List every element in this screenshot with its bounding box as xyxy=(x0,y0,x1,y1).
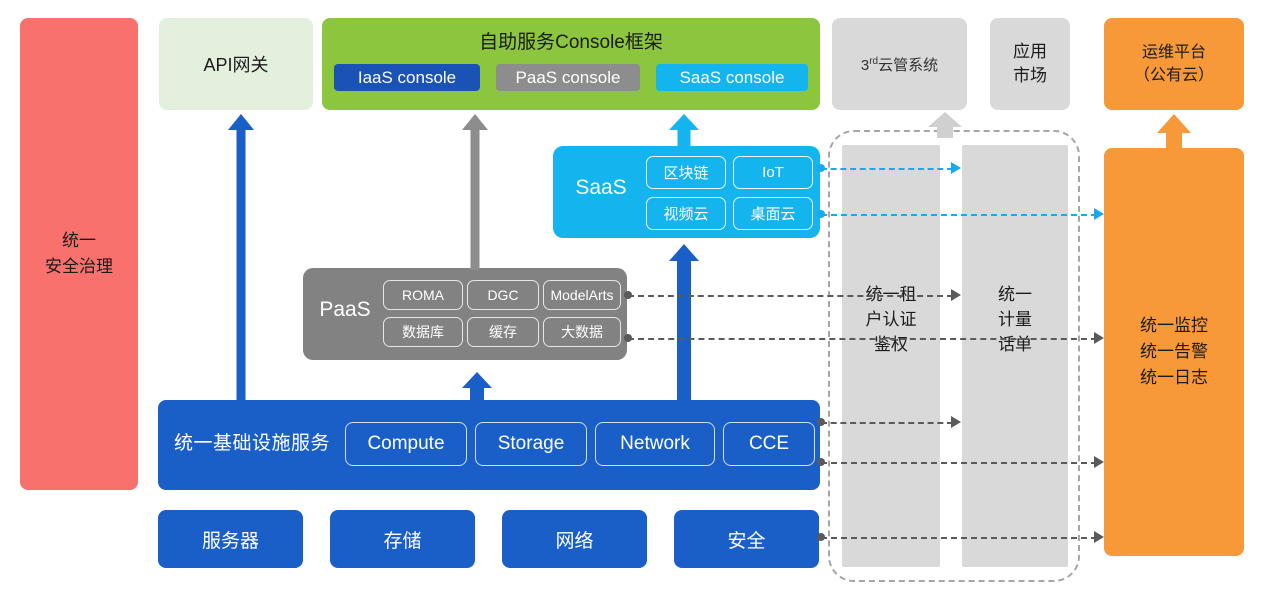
tenant-auth-label: 统一租 户认证 鉴权 xyxy=(842,282,940,357)
security-line-2: 安全治理 xyxy=(45,254,113,280)
saas-console-chip: SaaS console xyxy=(656,64,808,91)
paas-service-modelarts: ModelArts xyxy=(543,280,621,310)
app-market-line-1: 应用 xyxy=(1013,40,1047,64)
ops-panel-line-1: 统一监控 xyxy=(1140,313,1208,339)
api-gateway-box: API网关 xyxy=(159,18,313,110)
saas-service-blockchain: 区块链 xyxy=(646,156,726,189)
paas-service-bigdata: 大数据 xyxy=(543,317,621,347)
saas-layer-box: SaaS 区块链 IoT 视频云 桌面云 xyxy=(553,146,820,238)
unified-infrastructure-label: 统一基础设施服务 xyxy=(174,428,330,455)
unified-infrastructure-box: 统一基础设施服务 Compute Storage Network CCE xyxy=(158,400,820,490)
third-party-cloud-label: 3rd云管系统 xyxy=(861,54,938,75)
arrowhead-infra-to-auth xyxy=(951,416,961,428)
paas-console-chip: PaaS console xyxy=(496,64,640,91)
saas-service-iot: IoT xyxy=(733,156,813,189)
ops-panel-line-2: 统一告警 xyxy=(1140,339,1208,365)
dashed-paas-to-ops xyxy=(628,338,1097,340)
paas-service-database: 数据库 xyxy=(383,317,463,347)
arrow-infra-to-api-gateway xyxy=(228,114,254,402)
resource-storage-box: 存储 xyxy=(330,510,475,568)
resource-network-box: 网络 xyxy=(502,510,647,568)
arrow-ops-panel-to-ops-platform xyxy=(1157,114,1191,148)
dashed-resources-to-ops xyxy=(821,537,1097,539)
infra-service-cce: CCE xyxy=(723,422,815,466)
saas-service-video-cloud: 视频云 xyxy=(646,197,726,230)
dashed-saas-to-ops xyxy=(821,214,1097,216)
dashed-infra-to-ops xyxy=(821,462,1097,464)
arrow-infra-to-paas xyxy=(462,372,492,402)
metering-billing-label: 统一 计量 话单 xyxy=(962,282,1068,357)
arrowhead-saas-to-auth xyxy=(951,162,961,174)
arrowhead-paas-to-ops xyxy=(1094,332,1104,344)
resource-server-box: 服务器 xyxy=(158,510,303,568)
ops-platform-line-1: 运维平台 xyxy=(1134,41,1214,64)
dashed-infra-to-auth xyxy=(821,422,953,424)
security-governance-panel: 统一 安全治理 xyxy=(20,18,138,490)
dashed-paas-to-auth xyxy=(628,295,953,297)
infra-service-storage: Storage xyxy=(475,422,587,466)
app-market-line-2: 市场 xyxy=(1013,64,1047,88)
app-market-box: 应用 市场 xyxy=(990,18,1070,110)
api-gateway-label: API网关 xyxy=(203,51,268,77)
arrow-paas-to-console xyxy=(462,114,488,270)
ops-platform-line-2: （公有云） xyxy=(1134,64,1214,87)
resource-security-box: 安全 xyxy=(674,510,819,568)
dashed-saas-to-auth xyxy=(821,168,953,170)
arrowhead-paas-to-auth xyxy=(951,289,961,301)
infra-service-network: Network xyxy=(595,422,715,466)
third-party-cloud-management-box: 3rd云管系统 xyxy=(832,18,967,110)
paas-layer-box: PaaS ROMA DGC ModelArts 数据库 缓存 大数据 xyxy=(303,268,627,360)
paas-layer-label: PaaS xyxy=(311,298,379,322)
iaas-console-chip: IaaS console xyxy=(334,64,480,91)
arrow-saas-to-console xyxy=(669,114,699,148)
arrow-infra-to-saas xyxy=(669,244,699,402)
arrowhead-resources-to-ops xyxy=(1094,531,1104,543)
console-framework-box: 自助服务Console框架 IaaS console PaaS console … xyxy=(322,18,820,110)
paas-service-cache: 缓存 xyxy=(467,317,539,347)
ops-platform-public-cloud-box: 运维平台 （公有云） xyxy=(1104,18,1244,110)
arrow-common-to-third-party-cloud xyxy=(928,112,962,138)
paas-service-dgc: DGC xyxy=(467,280,539,310)
security-line-1: 统一 xyxy=(45,228,113,254)
unified-ops-panel: 统一监控 统一告警 统一日志 xyxy=(1104,148,1244,556)
ops-panel-line-3: 统一日志 xyxy=(1140,365,1208,391)
infra-service-compute: Compute xyxy=(345,422,467,466)
console-framework-title: 自助服务Console框架 xyxy=(322,27,820,54)
arrowhead-saas-to-ops xyxy=(1094,208,1104,220)
paas-service-roma: ROMA xyxy=(383,280,463,310)
saas-layer-label: SaaS xyxy=(565,176,637,200)
saas-service-desktop-cloud: 桌面云 xyxy=(733,197,813,230)
architecture-diagram: 统一 安全治理 API网关 自助服务Console框架 IaaS console… xyxy=(0,0,1265,605)
arrowhead-infra-to-ops xyxy=(1094,456,1104,468)
